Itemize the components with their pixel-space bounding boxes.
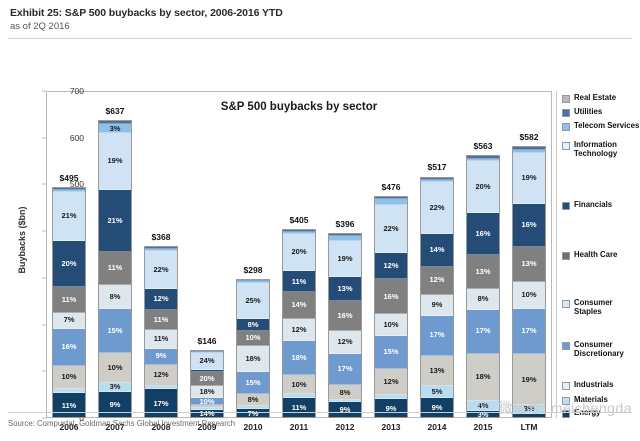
- legend-label: Materials: [574, 396, 608, 405]
- legend-label: Health Care: [574, 251, 617, 260]
- legend-swatch-icon: [562, 142, 570, 150]
- legend-label: Real Estate: [574, 94, 616, 103]
- legend-item-materials[interactable]: Materials: [562, 396, 608, 405]
- x-axis-tick-2014: 2014: [414, 422, 460, 432]
- bar-total-label: $517: [414, 162, 460, 172]
- footer-divider: [8, 412, 632, 413]
- bar-total-label: $368: [138, 232, 184, 242]
- legend-swatch-icon: [562, 410, 570, 418]
- chart-title: S&P 500 buybacks by sector: [46, 101, 552, 113]
- source-note: Source: Compustat, Goldman Sachs Global …: [8, 419, 235, 428]
- bar-total-label: $563: [460, 141, 506, 151]
- legend-item-health-care[interactable]: Health Care: [562, 251, 617, 260]
- x-axis-tick-2015: 2015: [460, 422, 506, 432]
- legend-swatch-icon: [562, 109, 570, 117]
- bar-total-label: $146: [184, 336, 230, 346]
- legend-label: Utilities: [574, 108, 602, 117]
- y-axis-label: Buybacks ($bn): [17, 200, 27, 280]
- legend-swatch-icon: [562, 123, 570, 131]
- legend-swatch-icon: [562, 382, 570, 390]
- bar-total-label: $396: [322, 219, 368, 229]
- legend-label: Financials: [574, 201, 612, 210]
- legend-item-utilities[interactable]: Utilities: [562, 108, 602, 117]
- legend-item-financials[interactable]: Financials: [562, 201, 612, 210]
- legend-swatch-icon: [562, 202, 570, 210]
- legend-item-real-estate[interactable]: Real Estate: [562, 94, 616, 103]
- x-axis-tick-2013: 2013: [368, 422, 414, 432]
- bar-total-label: $405: [276, 215, 322, 225]
- legend-label: Energy: [574, 409, 600, 418]
- legend-label: Industrials: [574, 381, 613, 390]
- legend-swatch-icon: [562, 342, 570, 350]
- bar-total-label: $582: [506, 132, 552, 142]
- legend-label: Consumer Staples: [574, 299, 640, 316]
- x-axis-tick-2010: 2010: [230, 422, 276, 432]
- legend-item-consumer-staples[interactable]: Consumer Staples: [562, 299, 640, 316]
- legend-swatch-icon: [562, 252, 570, 260]
- legend-item-energy[interactable]: Energy: [562, 409, 600, 418]
- x-axis-tick-2011: 2011: [276, 422, 322, 432]
- page-title: Exhibit 25: S&P 500 buybacks by sector, …: [10, 7, 630, 19]
- legend-label: Telecom Services: [574, 122, 639, 131]
- chart-container: S&P 500 buybacks by sector Buybacks ($bn…: [0, 39, 640, 399]
- chart-legend: Real EstateUtilitiesTelecom ServicesInfo…: [556, 91, 640, 418]
- x-axis: 2006200720082009201020112012201320142015…: [46, 39, 552, 439]
- bar-total-label: $476: [368, 182, 414, 192]
- legend-label: Information Technology: [574, 141, 617, 158]
- bar-total-label: $298: [230, 265, 276, 275]
- legend-swatch-icon: [562, 397, 570, 405]
- legend-item-telecom-services[interactable]: Telecom Services: [562, 122, 639, 131]
- legend-swatch-icon: [562, 95, 570, 103]
- exhibit-header: Exhibit 25: S&P 500 buybacks by sector, …: [0, 0, 640, 34]
- x-axis-tick-2012: 2012: [322, 422, 368, 432]
- legend-item-information-technology[interactable]: Information Technology: [562, 141, 617, 158]
- exhibit-subtitle: as of 2Q 2016: [10, 21, 630, 32]
- legend-swatch-icon: [562, 300, 570, 308]
- x-axis-tick-LTM: LTM: [506, 422, 552, 432]
- legend-item-industrials[interactable]: Industrials: [562, 381, 613, 390]
- legend-item-consumer-discretionary[interactable]: Consumer Discretionary: [562, 341, 624, 358]
- bar-total-label: $495: [46, 173, 92, 183]
- legend-label: Consumer Discretionary: [574, 341, 624, 358]
